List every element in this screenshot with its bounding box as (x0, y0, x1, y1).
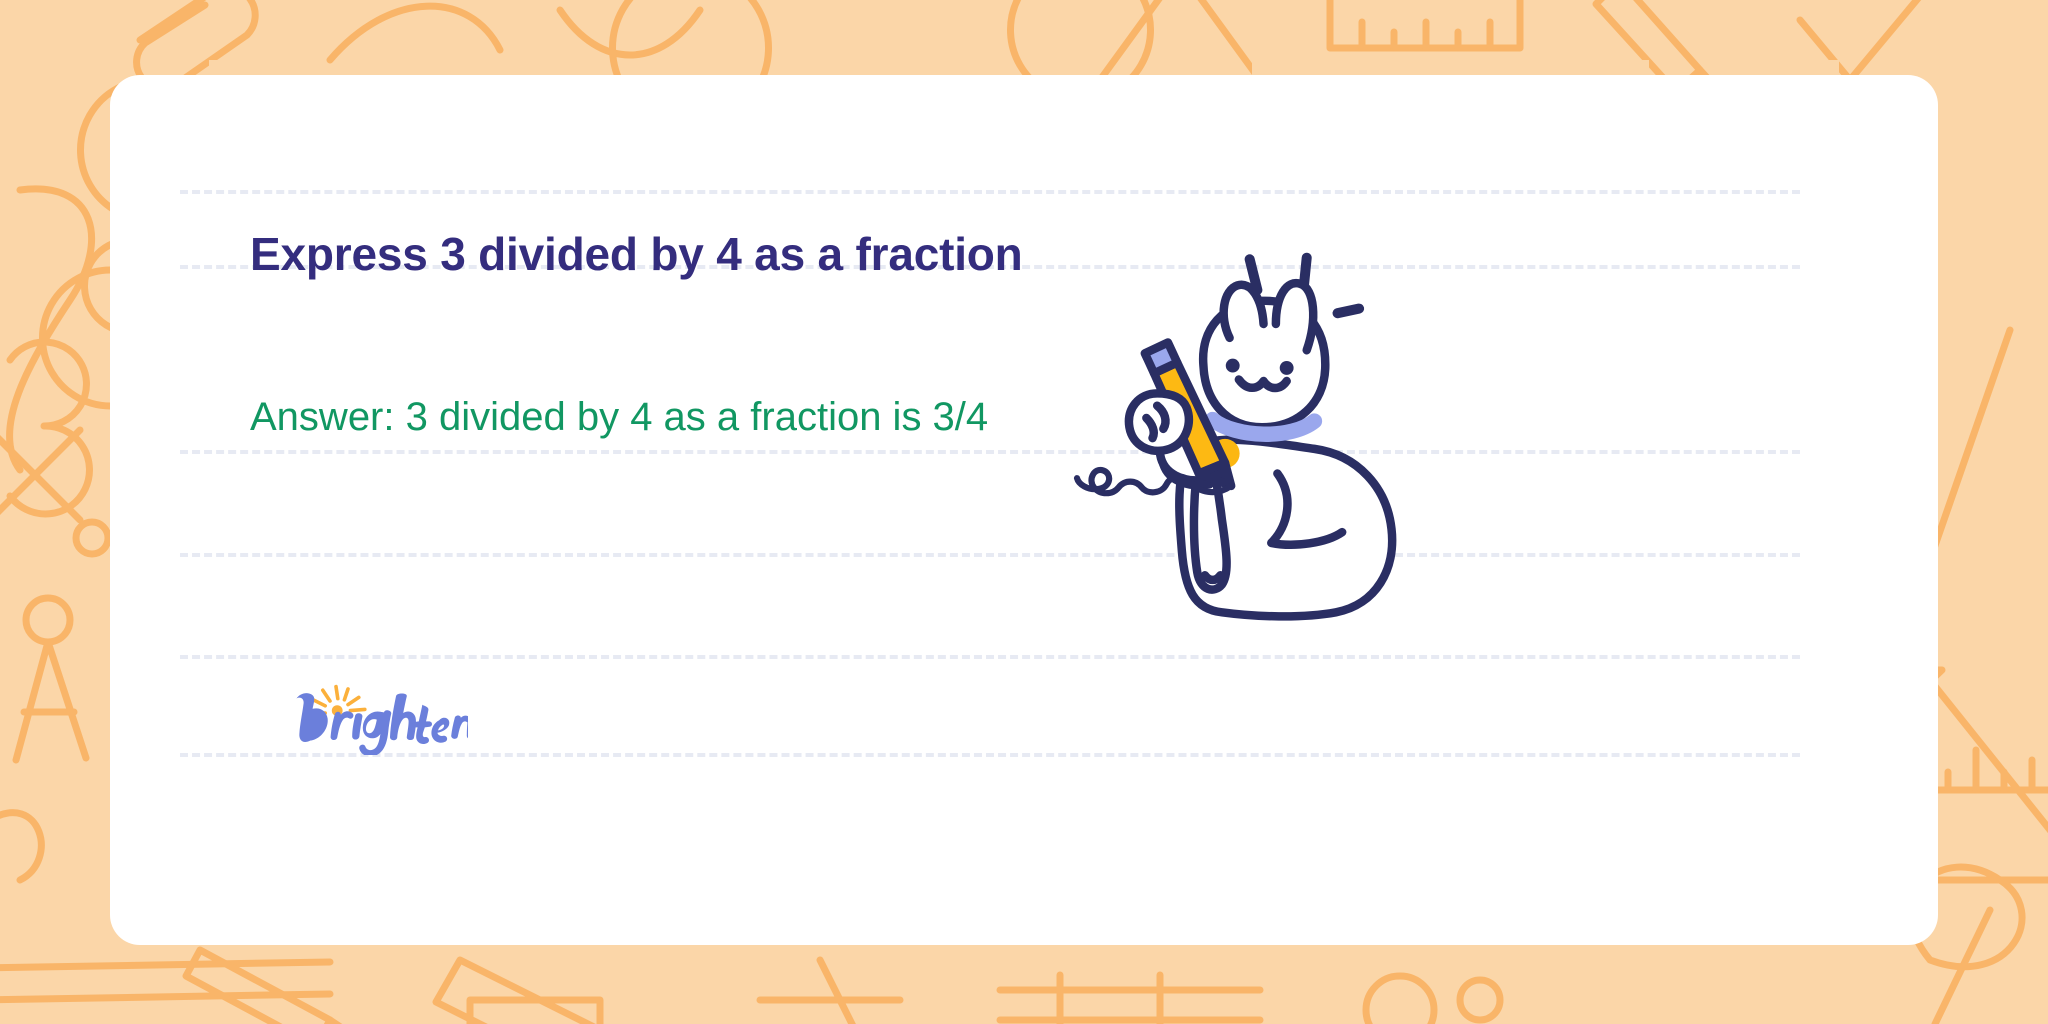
ruled-line-1 (180, 190, 1800, 194)
page-title: Express 3 divided by 4 as a fraction (250, 227, 1023, 281)
notebook-card: Express 3 divided by 4 as a fraction Ans… (110, 75, 1938, 945)
bunny-eye-left (1226, 359, 1240, 373)
ruled-line-5 (180, 655, 1800, 659)
ruled-line-3 (180, 450, 1800, 454)
bunny-mascot (1040, 240, 1410, 630)
bunny-paw-toe (1205, 575, 1220, 580)
answer-text: Answer: 3 divided by 4 as a fraction is … (250, 395, 988, 440)
brighterly-logo[interactable] (288, 683, 468, 755)
logo-wordmark (296, 693, 468, 755)
ruled-line-4 (180, 553, 1800, 557)
bunny-eye-right (1280, 361, 1294, 375)
pencil-eraser (1145, 343, 1177, 374)
